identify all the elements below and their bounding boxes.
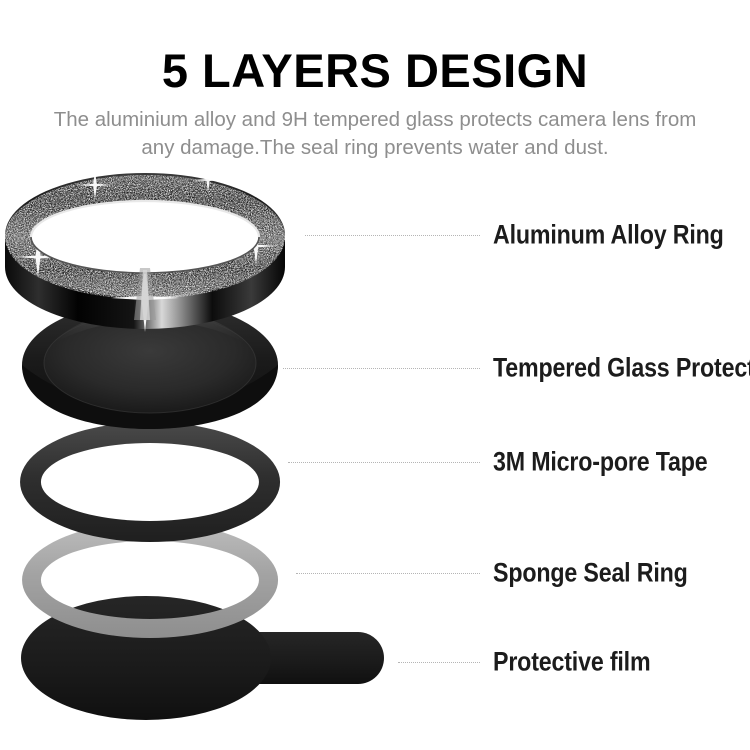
leader-line-sponge-seal-ring [296, 573, 480, 574]
subtitle-line-1: The aluminium alloy and 9H tempered glas… [18, 106, 732, 134]
page-title: 5 LAYERS DESIGN [0, 47, 750, 94]
subtitle-line-2: any damage.The seal ring prevents water … [18, 134, 732, 162]
leader-line-3m-micro-pore-tape [288, 462, 480, 463]
leader-line-protective-film [398, 662, 480, 663]
label-3m-micro-pore-tape: 3M Micro-pore Tape [493, 447, 742, 478]
leader-line-aluminum-alloy-ring [305, 235, 480, 236]
label-protective-film: Protective film [493, 647, 676, 678]
label-tempered-glass-protector: Tempered Glass Protector [493, 353, 750, 384]
layer-aluminum-alloy-ring [0, 160, 300, 332]
label-aluminum-alloy-ring: Aluminum Alloy Ring [493, 220, 750, 251]
product-layers-infographic: 5 LAYERS DESIGN The aluminium alloy and … [0, 0, 750, 750]
header: 5 LAYERS DESIGN The aluminium alloy and … [0, 0, 750, 161]
leader-line-tempered-glass-protector [283, 368, 480, 369]
page-subtitle: The aluminium alloy and 9H tempered glas… [0, 106, 750, 161]
layer-3m-micro-pore-tape [20, 422, 280, 542]
label-sponge-seal-ring: Sponge Seal Ring [493, 558, 719, 589]
